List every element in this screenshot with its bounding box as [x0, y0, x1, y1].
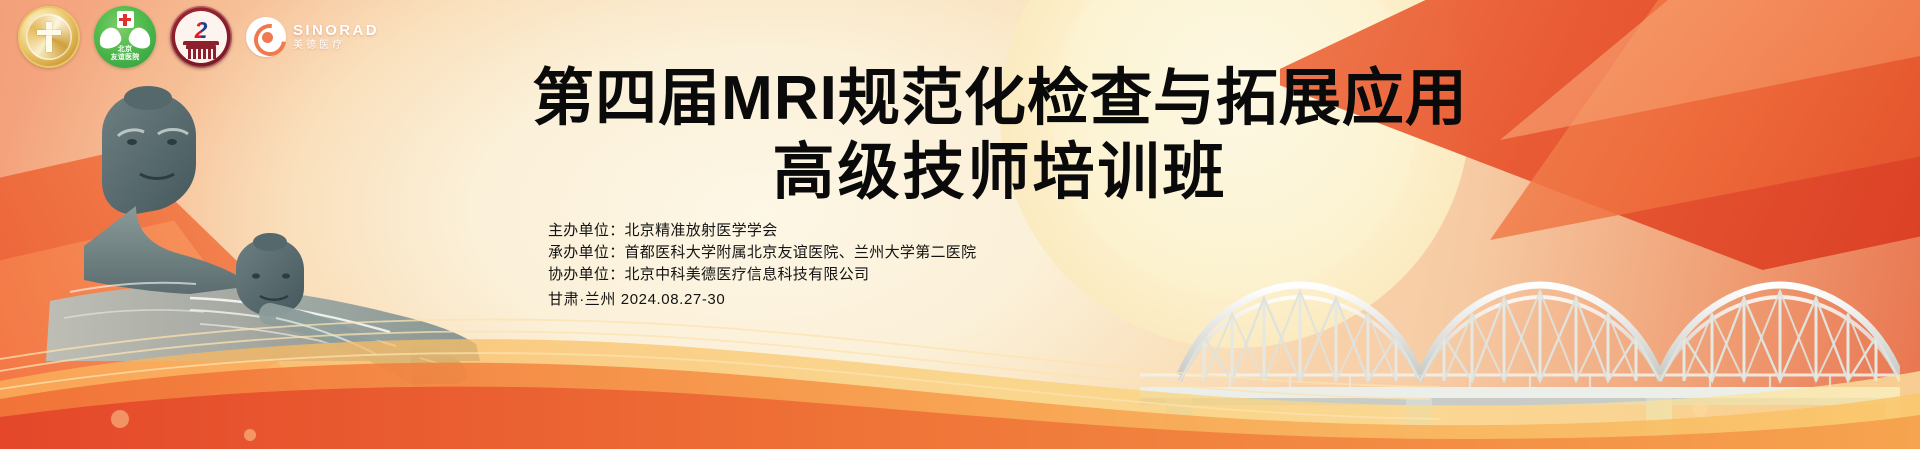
gold-cross-icon [37, 22, 61, 52]
red-cross-icon [117, 11, 134, 28]
sponsor-logo-row: 北京 友谊医院 2 SINORAD 美德医疗 [18, 6, 379, 68]
hospital-city: 北京 [118, 46, 132, 53]
detail-organizer: 主办单位：北京精准放射医学学会 [548, 220, 976, 242]
gold-seal-inner [26, 14, 72, 60]
maroon-seal-glyph: 2 [195, 19, 208, 42]
logo-beijing-friendship-hospital: 北京 友谊医院 [94, 6, 156, 68]
detail-host: 承办单位：首都医科大学附属北京友谊医院、兰州大学第二医院 [548, 242, 976, 264]
sinorad-wordmark: SINORAD 美德医疗 [293, 23, 379, 51]
conference-banner: 北京 友谊医院 2 SINORAD 美德医疗 第四届MRI规范化检查与拓展应用 … [0, 0, 1920, 449]
logo-sinorad-meide-medical: SINORAD 美德医疗 [246, 17, 379, 57]
sinorad-brand-en: SINORAD [293, 23, 379, 38]
hospital-name: 友谊医院 [111, 54, 140, 61]
logo-beijing-precision-radiology-society [18, 6, 80, 68]
detail-location-date: 甘肃·兰州 2024.08.27-30 [548, 289, 976, 311]
detail-co-organizer: 协办单位：北京中科美德医疗信息科技有限公司 [548, 264, 976, 286]
sinorad-mark-icon [246, 17, 286, 57]
sinorad-brand-cn: 美德医疗 [293, 40, 379, 51]
event-details: 主办单位：北京精准放射医学学会 承办单位：首都医科大学附属北京友谊医院、兰州大学… [548, 220, 976, 311]
hospital-building-arches [186, 49, 216, 59]
logo-lanzhou-university-second-hospital: 2 [170, 6, 232, 68]
friendship-hospital-label: 北京 友谊医院 [94, 46, 156, 62]
